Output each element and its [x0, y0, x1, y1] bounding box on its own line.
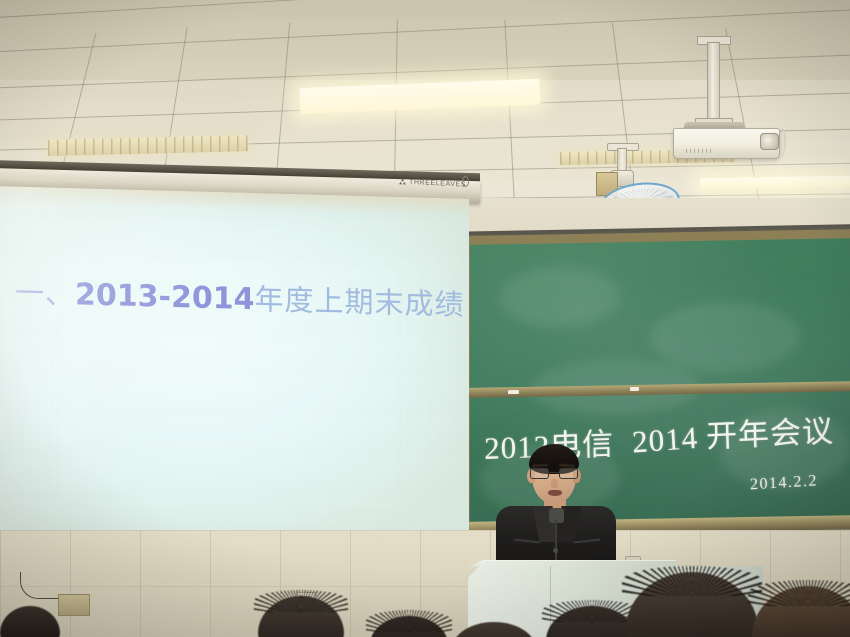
wall-cable [20, 572, 61, 599]
wall-junction-box [58, 594, 90, 616]
chalk-piece [630, 387, 639, 391]
ceiling-light-panel [48, 135, 248, 156]
presenter-jacket-button [553, 548, 558, 553]
chalkboard-gap [613, 424, 632, 460]
audience-head [546, 606, 638, 637]
audience-head [370, 616, 448, 637]
screen-glare [0, 186, 469, 581]
audience-hair [366, 610, 452, 632]
glasses-lens-right [559, 468, 578, 479]
presenter [496, 448, 616, 573]
chalk-smudge [500, 266, 620, 328]
ceiling-light-panel [700, 176, 850, 189]
projector-cable [766, 125, 786, 159]
ceiling-light-panel [300, 79, 541, 114]
projector-mount-rod [707, 42, 720, 127]
slide-heading: 一、2013-2014年度上期末成绩 [15, 279, 464, 321]
chalk-piece [508, 390, 519, 394]
projection-screen-surface: 一、2013-2014年度上期末成绩 [0, 186, 469, 581]
audience-head [258, 596, 344, 637]
chalkboard-year-label: 2014 [631, 420, 699, 461]
slide-bullet-label: 一、 [15, 276, 75, 312]
audience-hair [254, 590, 348, 612]
light-louver [48, 135, 248, 156]
presenter-nose [551, 479, 558, 488]
slide-heading-tail: 年度上期末成绩 [254, 282, 464, 322]
three-diamond-logo-icon [398, 178, 407, 185]
glasses-lens-left [530, 468, 549, 479]
audience-head [626, 572, 758, 637]
classroom-photo-scene: 2012电信 2014 开年会议 2014.2.2 THREELEAVES 一、… [0, 0, 850, 637]
chalk-smudge [650, 301, 800, 374]
slide-year-range: 2013-2014 [75, 277, 254, 317]
audience-hair [622, 566, 762, 596]
audience-head [752, 586, 850, 637]
audience-hair [748, 580, 850, 606]
glasses-bridge [549, 472, 559, 473]
chalkboard-event-label: 开年会议 [706, 405, 835, 456]
presenter-mouth [548, 490, 562, 496]
